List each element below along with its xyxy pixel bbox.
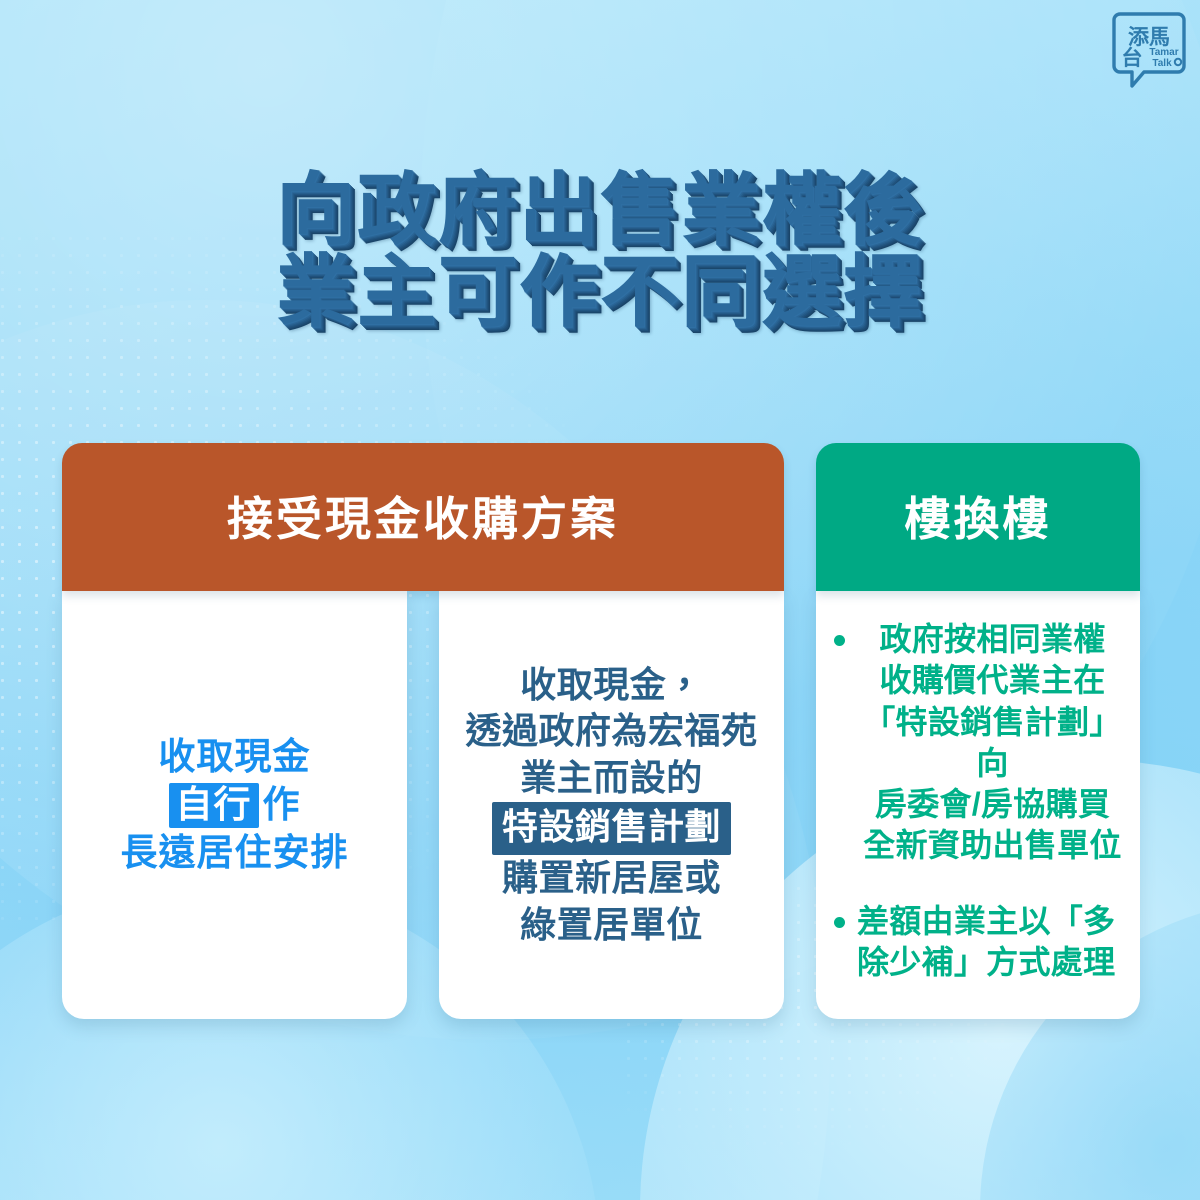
highlight-special-sale-scheme: 特設銷售計劃 bbox=[492, 802, 731, 855]
headline-line-2: 業主可作不同選擇 bbox=[0, 251, 1200, 333]
card-cash-purchase: 接受現金收購方案 收取現金 自行作 長遠居住安排 收取現金， 透過政府為宏福苑 … bbox=[62, 443, 784, 1019]
headline-line-1: 向政府出售業權後 bbox=[0, 169, 1200, 251]
infographic-poster: 添馬 台 Tamar Talk 向政府出售業權後 業主可作不同選擇 接受現金收購… bbox=[0, 0, 1200, 1200]
panel-flat-for-flat: 政府按相同業權 收購價代業主在 「特設銷售計劃」向 房委會/房協購買 全新資助出… bbox=[816, 591, 1140, 1019]
bullet-text: 政府按相同業權 收購價代業主在 「特設銷售計劃」向 房委會/房協購買 全新資助出… bbox=[857, 619, 1128, 867]
text-line: 購置新居屋或 bbox=[465, 855, 757, 902]
list-item: 差額由業主以「多 除少補」方式處理 bbox=[834, 901, 1128, 984]
svg-text:Talk: Talk bbox=[1152, 58, 1172, 69]
text-line: 自行作 bbox=[121, 781, 349, 829]
panel-cash-special-scheme: 收取現金， 透過政府為宏福苑 業主而設的 特設銷售計劃 購置新居屋或 綠置居單位 bbox=[439, 591, 784, 1019]
list-item: 政府按相同業權 收購價代業主在 「特設銷售計劃」向 房委會/房協購買 全新資助出… bbox=[834, 619, 1128, 867]
text-line: 特設銷售計劃 bbox=[465, 802, 757, 855]
flat-for-flat-panels: 政府按相同業權 收購價代業主在 「特設銷售計劃」向 房委會/房協購買 全新資助出… bbox=[816, 591, 1140, 1019]
panel-cash-special-scheme-text: 收取現金， 透過政府為宏福苑 業主而設的 特設銷售計劃 購置新居屋或 綠置居單位 bbox=[465, 662, 757, 949]
text-line: 長遠居住安排 bbox=[121, 829, 349, 877]
text-line: 業主而設的 bbox=[465, 755, 757, 802]
svg-text:Tamar: Tamar bbox=[1149, 47, 1178, 58]
page-title: 向政府出售業權後 業主可作不同選擇 bbox=[0, 169, 1200, 333]
card-header-flat-for-flat: 樓換樓 bbox=[816, 443, 1140, 591]
text-line: 收取現金， bbox=[465, 662, 757, 709]
panel-cash-self-arrange: 收取現金 自行作 長遠居住安排 bbox=[62, 591, 407, 1019]
card-header-cash-purchase: 接受現金收購方案 bbox=[62, 443, 784, 591]
bullet-text: 差額由業主以「多 除少補」方式處理 bbox=[857, 901, 1115, 984]
text-line: 綠置居單位 bbox=[465, 902, 757, 949]
cash-purchase-panels: 收取現金 自行作 長遠居住安排 收取現金， 透過政府為宏福苑 業主而設的 特設銷… bbox=[62, 591, 784, 1019]
panel-cash-self-arrange-text: 收取現金 自行作 長遠居住安排 bbox=[121, 733, 349, 877]
bullet-dot-icon bbox=[834, 635, 845, 646]
option-cards-row: 接受現金收購方案 收取現金 自行作 長遠居住安排 收取現金， 透過政府為宏福苑 … bbox=[62, 443, 1140, 1019]
svg-text:台: 台 bbox=[1122, 46, 1143, 70]
flat-for-flat-bullet-list: 政府按相同業權 收購價代業主在 「特設銷售計劃」向 房委會/房協購買 全新資助出… bbox=[834, 619, 1128, 983]
highlight-self-arrange: 自行 bbox=[169, 783, 259, 828]
text-line: 收取現金 bbox=[121, 733, 349, 781]
bullet-dot-icon bbox=[834, 917, 845, 928]
card-flat-for-flat: 樓換樓 政府按相同業權 收購價代業主在 「特設銷售計劃」向 房委會/房協購買 全… bbox=[816, 443, 1140, 1019]
tamar-talk-logo: 添馬 台 Tamar Talk bbox=[1110, 10, 1188, 90]
svg-text:添馬: 添馬 bbox=[1128, 26, 1170, 49]
text-line: 透過政府為宏福苑 bbox=[465, 708, 757, 755]
